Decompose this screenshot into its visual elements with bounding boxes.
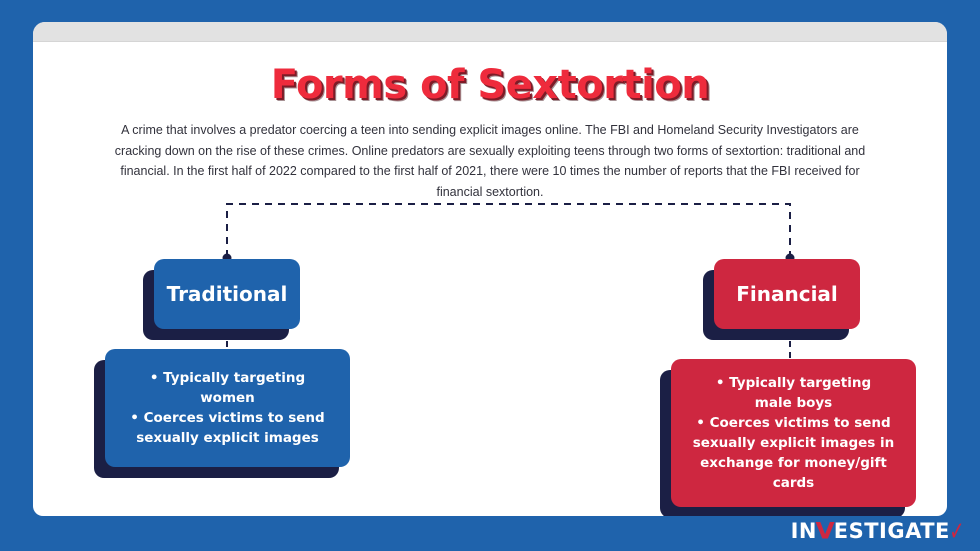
logo-text-part2: ESTIGATE (834, 519, 950, 543)
branch-head-financial[interactable]: Financial (714, 259, 860, 329)
logo-text-part1: IN (791, 519, 817, 543)
investigate-logo: IN V ESTIGATE ✓ (791, 519, 966, 543)
list-item: sexually explicit images in (681, 433, 906, 453)
intro-paragraph: A crime that involves a predator coercin… (108, 120, 872, 202)
list-item: • Typically targeting (130, 368, 324, 388)
card-top-bar (33, 22, 947, 42)
page-title: Forms of Sextortion (33, 62, 947, 108)
branch-details-body-financial: • Typically targeting male boys • Coerce… (671, 359, 916, 507)
branch-details-body-traditional: • Typically targeting women • Coerces vi… (105, 349, 350, 467)
list-item: • Coerces victims to send (130, 408, 324, 428)
list-item: sexually explicit images (130, 428, 324, 448)
branch-details-traditional[interactable]: • Typically targeting women • Coerces vi… (105, 349, 350, 467)
logo-v-mark: V (815, 518, 835, 543)
list-item: • Coerces victims to send (681, 413, 906, 433)
list-item: male boys (681, 393, 906, 413)
branch-details-financial[interactable]: • Typically targeting male boys • Coerce… (671, 359, 916, 507)
logo-check-icon: ✓ (949, 516, 964, 546)
list-item: women (130, 388, 324, 408)
slide-card: Forms of Sextortion A crime that involve… (33, 22, 947, 516)
branch-head-traditional[interactable]: Traditional (154, 259, 300, 329)
list-item: exchange for money/gift cards (681, 453, 906, 493)
branch-head-label-traditional: Traditional (154, 259, 300, 329)
branch-head-label-financial: Financial (714, 259, 860, 329)
list-item: • Typically targeting (681, 373, 906, 393)
